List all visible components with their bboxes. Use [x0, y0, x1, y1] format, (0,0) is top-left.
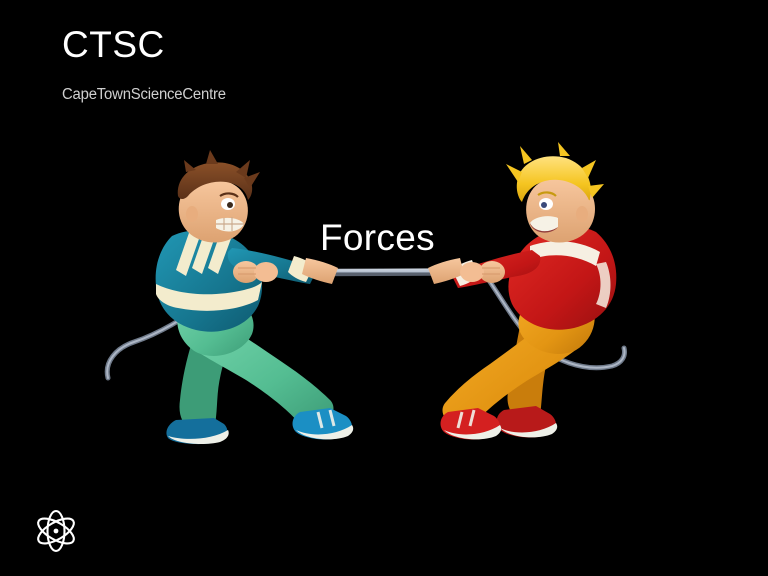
boy-pulling-right: [428, 142, 616, 439]
page-title: Forces: [320, 216, 435, 260]
atom-icon: [28, 502, 84, 560]
boy-pulling-left: [156, 150, 354, 444]
presentation-slide: CTSC CapeTownScienceCentre: [0, 0, 768, 576]
tug-of-war-illustration: [0, 0, 768, 576]
